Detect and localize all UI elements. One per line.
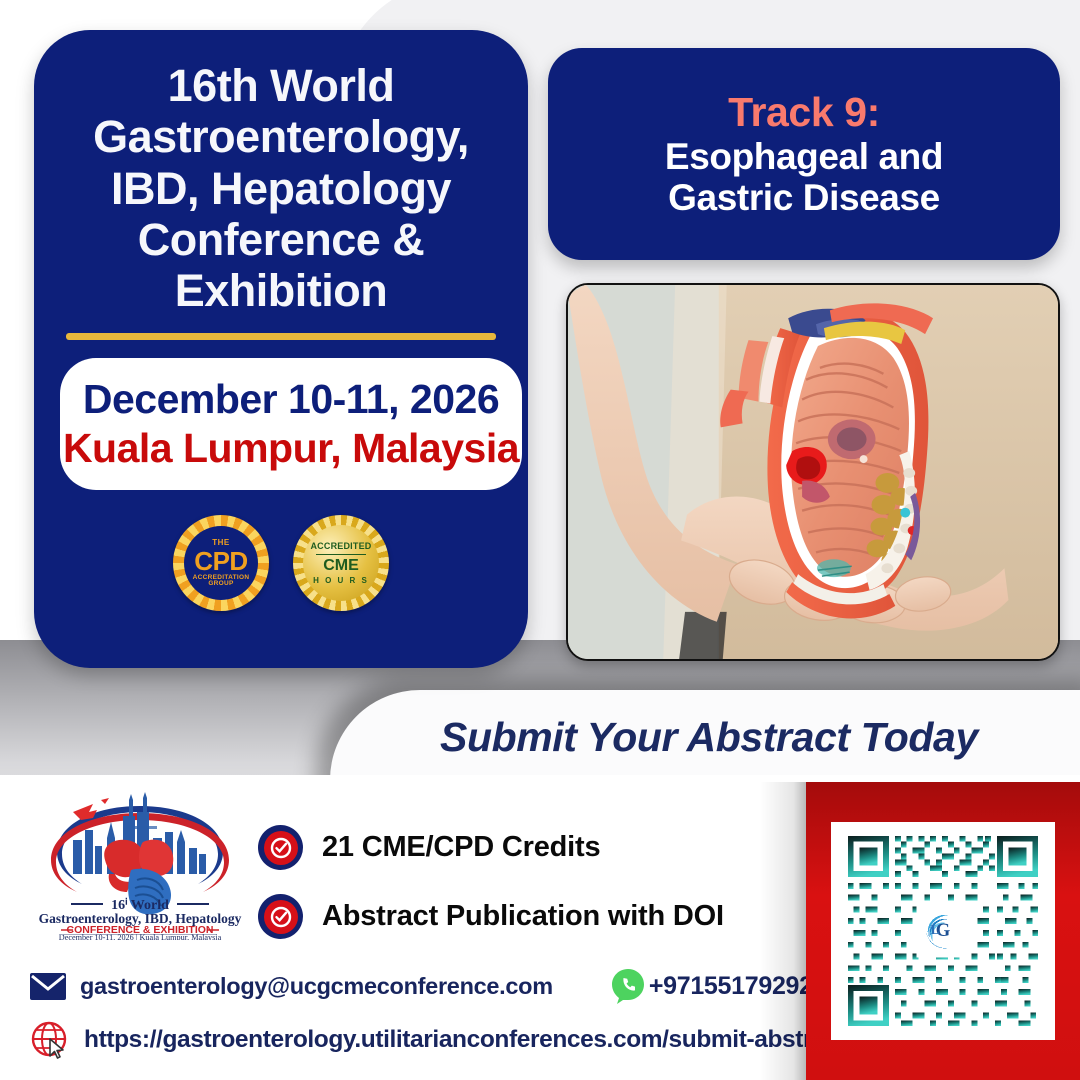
check-circle-icon xyxy=(258,894,303,939)
feature-item: 21 CME/CPD Credits xyxy=(258,825,724,870)
conference-title: 16th World Gastroenterology, IBD, Hepato… xyxy=(60,60,502,316)
svg-text:December 10-11, 2026 | Kuala L: December 10-11, 2026 | Kuala Lumpur, Mal… xyxy=(59,933,222,940)
conference-date: December 10-11, 2026 xyxy=(83,376,499,423)
stomach-model-photo xyxy=(566,283,1060,661)
accreditation-badges: THE CPD ACCREDITATION GROUP ACCREDITED C… xyxy=(60,515,502,611)
conference-logo: 16ⁱ World Gastroenterology, IBD, Hepatol… xyxy=(35,782,245,940)
track-number: Track 9: xyxy=(728,90,880,136)
cme-badge-rule xyxy=(316,554,366,556)
contact-row-website: https://gastroenterology.utilitarianconf… xyxy=(30,1020,846,1060)
cta-headline: Submit Your Abstract Today xyxy=(440,714,978,761)
cme-badge-sub: H O U R S xyxy=(313,577,369,585)
feature-label: 21 CME/CPD Credits xyxy=(322,831,600,864)
contact-block: gastroenterology@ucgcmeconference.com +9… xyxy=(30,968,846,1060)
cme-accreditation-badge: ACCREDITED CME H O U R S xyxy=(293,515,389,611)
gold-divider xyxy=(66,333,496,340)
cme-badge-top: ACCREDITED xyxy=(310,542,371,551)
cpd-accreditation-badge: THE CPD ACCREDITATION GROUP xyxy=(173,515,269,611)
feature-list: 21 CME/CPD Credits Abstract Publication … xyxy=(258,825,724,939)
conference-title-line-2: Gastroenterology, xyxy=(60,111,502,162)
feature-item: Abstract Publication with DOI xyxy=(258,894,724,939)
poster-canvas: 16th World Gastroenterology, IBD, Hepato… xyxy=(0,0,1080,1080)
track-title-card: Track 9: Esophageal and Gastric Disease xyxy=(548,48,1060,260)
cpd-badge-main: CPD xyxy=(194,548,247,574)
contact-row-email-phone: gastroenterology@ucgcmeconference.com +9… xyxy=(30,968,846,1004)
feature-label: Abstract Publication with DOI xyxy=(322,900,724,933)
conference-title-line-4: Conference & xyxy=(60,214,502,265)
qr-panel: G L xyxy=(806,782,1080,1080)
conference-title-line-3: IBD, Hepatology xyxy=(60,163,502,214)
date-location-pill: December 10-11, 2026 Kuala Lumpur, Malay… xyxy=(60,358,522,490)
cme-badge-main: CME xyxy=(323,558,359,574)
envelope-icon xyxy=(30,973,66,1000)
website-url[interactable]: https://gastroenterology.utilitarianconf… xyxy=(84,1026,846,1054)
check-circle-icon xyxy=(258,825,303,870)
track-name-line-1: Esophageal and xyxy=(665,136,943,177)
track-name-line-2: Gastric Disease xyxy=(668,177,940,218)
svg-text:L: L xyxy=(931,922,940,937)
conference-title-line-5: Exhibition xyxy=(60,265,502,316)
conference-location: Kuala Lumpur, Malaysia xyxy=(63,425,519,472)
cpd-badge-sub2: GROUP xyxy=(208,581,233,588)
qr-panel-shadow xyxy=(760,782,808,1080)
qr-code[interactable]: G L xyxy=(831,822,1055,1040)
globe-cursor-icon xyxy=(30,1020,70,1060)
conference-info-card: 16th World Gastroenterology, IBD, Hepato… xyxy=(34,30,528,668)
whatsapp-icon xyxy=(611,968,645,1004)
conference-title-line-1: 16th World xyxy=(60,60,502,111)
email-address[interactable]: gastroenterology@ucgcmeconference.com xyxy=(80,973,553,1000)
